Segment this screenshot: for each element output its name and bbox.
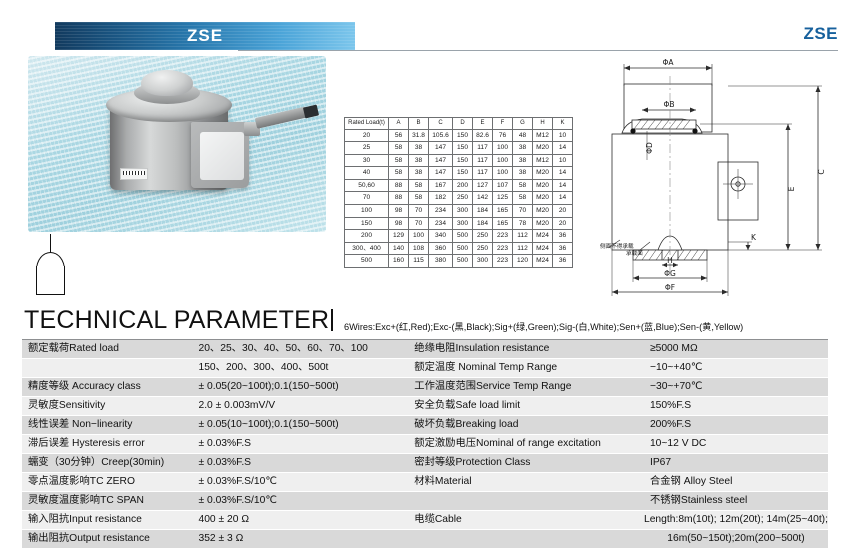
dim-cell-c: 147 xyxy=(429,142,453,155)
label-h: H xyxy=(667,256,673,265)
dimension-table-row: 200129100340500250223112M2436 xyxy=(345,230,573,243)
dim-cell-g: 112 xyxy=(513,230,533,243)
param-left-label: 蠕变（30分钟）Creep(30min) xyxy=(22,454,192,473)
dim-cell-k: 36 xyxy=(553,242,573,255)
dim-cell-k: 10 xyxy=(553,154,573,167)
param-right-value: 200%F.S xyxy=(644,416,828,435)
param-left-value: 150、200、300、400、500t xyxy=(192,359,408,378)
dim-cell-b: 31.8 xyxy=(409,129,429,142)
dimension-table-row: 150987023430018416578M2020 xyxy=(345,217,573,230)
label-phi-d: ΦD xyxy=(645,142,654,154)
dim-cell-k: 14 xyxy=(553,192,573,205)
page-header: ZSE ZSE xyxy=(0,0,850,58)
dim-cell-d: 150 xyxy=(453,129,473,142)
param-right-label: 破坏负载Breaking load xyxy=(408,416,644,435)
dimension-table-row: 500160115380500300223120M2436 xyxy=(345,255,573,268)
product-banner: ZSE xyxy=(55,22,355,50)
dim-cell-b: 108 xyxy=(409,242,429,255)
param-right-label: 工作温度范围Service Temp Range xyxy=(408,378,644,397)
dim-cell-h: M20 xyxy=(533,167,553,180)
param-right-label: 密封等级Protection Class xyxy=(408,454,644,473)
dim-cell-f: 100 xyxy=(493,142,513,155)
title-divider-bar xyxy=(331,309,333,331)
param-right-label: 电缆Cable xyxy=(408,511,644,530)
dim-cell-h: M20 xyxy=(533,142,553,155)
parameter-row: 精度等级 Accuracy class± 0.05(20~100t);0.1(1… xyxy=(22,378,828,397)
dim-cell-h: M20 xyxy=(533,192,553,205)
param-right-value: −10~+40℃ xyxy=(644,359,828,378)
dimension-table-row: 30583814715011710038M1210 xyxy=(345,154,573,167)
product-code: ZSE xyxy=(803,24,838,44)
dimension-table-header-row: Rated Load(t) A B C D E F G H K xyxy=(345,118,573,130)
dim-cell-c: 360 xyxy=(429,242,453,255)
banner-title: ZSE xyxy=(55,22,355,50)
page-title: TECHNICAL PARAMETER xyxy=(24,306,333,335)
param-left-label: 滞后误差 Hysteresis error xyxy=(22,435,192,454)
note-bearing-surface: 承载面 xyxy=(626,249,643,257)
param-right-value: 合金钢 Alloy Steel xyxy=(644,473,828,492)
dim-cell-k: 14 xyxy=(553,179,573,192)
label-c: C xyxy=(817,169,826,174)
dim-cell-e: 142 xyxy=(473,192,493,205)
dim-cell-b: 70 xyxy=(409,204,429,217)
label-phi-g: ΦG xyxy=(664,269,676,278)
param-right-value: 10~12 V DC xyxy=(644,435,828,454)
dimension-table-row: 25583814715011710038M2014 xyxy=(345,142,573,155)
param-right-label: 额定温度 Nominal Temp Range xyxy=(408,359,644,378)
param-left-value: ± 0.03%F.S/10℃ xyxy=(192,473,408,492)
dim-cell-d: 500 xyxy=(453,255,473,268)
param-right-value: ≥5000 MΩ xyxy=(644,340,828,359)
dim-cell-f: 223 xyxy=(493,230,513,243)
param-left-value: ± 0.03%F.S xyxy=(192,454,408,473)
label-e: E xyxy=(787,186,796,191)
dim-cell-b: 100 xyxy=(409,230,429,243)
dim-col-b: B xyxy=(409,118,429,130)
dim-cell-d: 200 xyxy=(453,179,473,192)
dim-col-f: F xyxy=(493,118,513,130)
dim-cell-f: 223 xyxy=(493,242,513,255)
dim-cell-c: 340 xyxy=(429,230,453,243)
parameter-row: 蠕变（30分钟）Creep(30min)± 0.03%F.S密封等级Protec… xyxy=(22,454,828,473)
dim-cell-f: 165 xyxy=(493,217,513,230)
dim-cell-e: 117 xyxy=(473,167,493,180)
dim-cell-e: 250 xyxy=(473,230,493,243)
label-phi-a: ΦA xyxy=(662,58,674,67)
param-left-value: 2.0 ± 0.003mV/V xyxy=(192,397,408,416)
header-divider xyxy=(238,50,838,51)
dim-cell-e: 117 xyxy=(473,142,493,155)
dim-cell-a: 58 xyxy=(389,167,409,180)
parameter-row: 灵敏度温度影响TC SPAN± 0.03%F.S/10℃不锈钢Stainless… xyxy=(22,492,828,511)
dim-cell-rated-load: 25 xyxy=(345,142,389,155)
dim-cell-c: 182 xyxy=(429,192,453,205)
dim-cell-rated-load: 20 xyxy=(345,129,389,142)
dim-cell-k: 10 xyxy=(553,129,573,142)
dimension-table-row: 205631.8105.615082.67648M1210 xyxy=(345,129,573,142)
dim-cell-e: 82.6 xyxy=(473,129,493,142)
param-left-label: 线性误差 Non−linearity xyxy=(22,416,192,435)
dim-cell-b: 70 xyxy=(409,217,429,230)
param-left-label: 灵敏度Sensitivity xyxy=(22,397,192,416)
dim-cell-b: 58 xyxy=(409,192,429,205)
dim-cell-b: 38 xyxy=(409,142,429,155)
dim-cell-c: 147 xyxy=(429,167,453,180)
dim-cell-f: 165 xyxy=(493,204,513,217)
dim-cell-h: M24 xyxy=(533,242,553,255)
dim-cell-c: 105.6 xyxy=(429,129,453,142)
dim-cell-h: M12 xyxy=(533,154,553,167)
dim-cell-c: 167 xyxy=(429,179,453,192)
dim-cell-g: 58 xyxy=(513,192,533,205)
dimension-table-row: 300、400140108360500250223112M2436 xyxy=(345,242,573,255)
dim-cell-a: 98 xyxy=(389,204,409,217)
dim-col-a: A xyxy=(389,118,409,130)
dim-cell-k: 14 xyxy=(553,142,573,155)
dim-cell-g: 38 xyxy=(513,154,533,167)
dim-cell-rated-load: 200 xyxy=(345,230,389,243)
dim-cell-rated-load: 50,60 xyxy=(345,179,389,192)
dim-cell-rated-load: 100 xyxy=(345,204,389,217)
dim-cell-k: 36 xyxy=(553,255,573,268)
dim-cell-rated-load: 500 xyxy=(345,255,389,268)
parameter-row: 150、200、300、400、500t额定温度 Nominal Temp Ra… xyxy=(22,359,828,378)
param-left-label: 零点温度影响TC ZERO xyxy=(22,473,192,492)
label-phi-b: ΦB xyxy=(663,100,674,109)
dim-cell-d: 500 xyxy=(453,230,473,243)
dim-cell-h: M24 xyxy=(533,255,553,268)
parameter-row: 线性误差 Non−linearity± 0.05(10~100t);0.1(15… xyxy=(22,416,828,435)
dim-cell-k: 20 xyxy=(553,217,573,230)
dim-cell-f: 100 xyxy=(493,154,513,167)
dim-cell-a: 58 xyxy=(389,154,409,167)
dimension-table-row: 100987023430018416570M2020 xyxy=(345,204,573,217)
dim-cell-b: 38 xyxy=(409,154,429,167)
load-cell-nameplate xyxy=(200,132,244,180)
dim-cell-b: 58 xyxy=(409,179,429,192)
dim-cell-h: M20 xyxy=(533,217,553,230)
dim-cell-g: 112 xyxy=(513,242,533,255)
dim-cell-g: 78 xyxy=(513,217,533,230)
dim-cell-h: M20 xyxy=(533,179,553,192)
dimension-table-row: 70885818225014212558M2014 xyxy=(345,192,573,205)
dim-cell-a: 88 xyxy=(389,179,409,192)
param-right-value: Length:8m(10t); 12m(20t); 14m(25~40t); xyxy=(644,511,828,530)
product-photo xyxy=(28,56,326,232)
param-left-value: ± 0.05(10~100t);0.1(150~500t) xyxy=(192,416,408,435)
param-left-value: 20、25、30、40、50、60、70、100 xyxy=(192,340,408,359)
param-right-label xyxy=(408,492,644,511)
dim-cell-h: M24 xyxy=(533,230,553,243)
dim-cell-c: 234 xyxy=(429,217,453,230)
param-right-value: 150%F.S xyxy=(644,397,828,416)
dim-cell-k: 14 xyxy=(553,167,573,180)
dim-col-d: D xyxy=(453,118,473,130)
dim-cell-d: 300 xyxy=(453,204,473,217)
dim-cell-d: 150 xyxy=(453,142,473,155)
dim-cell-d: 300 xyxy=(453,217,473,230)
parameter-row: 滞后误差 Hysteresis error± 0.03%F.S额定激励电压Nom… xyxy=(22,435,828,454)
param-left-value: 400 ± 20 Ω xyxy=(192,511,408,530)
dim-cell-a: 56 xyxy=(389,129,409,142)
param-right-value: −30~+70℃ xyxy=(644,378,828,397)
load-cell-outline-icon xyxy=(36,266,65,295)
dimension-table-row: 40583814715011710038M2014 xyxy=(345,167,573,180)
dim-cell-h: M12 xyxy=(533,129,553,142)
dim-cell-g: 58 xyxy=(513,179,533,192)
dim-cell-a: 98 xyxy=(389,217,409,230)
dimension-table-container: Rated Load(t) A B C D E F G H K 205631.8… xyxy=(344,117,573,268)
parameter-row: 输入阻抗Input resistance400 ± 20 Ω电缆CableLen… xyxy=(22,511,828,530)
param-left-label: 输入阻抗Input resistance xyxy=(22,511,192,530)
dim-col-h: H xyxy=(533,118,553,130)
param-right-label: 绝缘电阻Insulation resistance xyxy=(408,340,644,359)
dim-cell-a: 129 xyxy=(389,230,409,243)
dim-cell-rated-load: 30 xyxy=(345,154,389,167)
dim-cell-k: 20 xyxy=(553,204,573,217)
label-phi-f: ΦF xyxy=(665,283,675,292)
dim-cell-a: 160 xyxy=(389,255,409,268)
dim-cell-d: 150 xyxy=(453,167,473,180)
dim-cell-g: 120 xyxy=(513,255,533,268)
parameter-row: 灵敏度Sensitivity2.0 ± 0.003mV/V安全负载Safe lo… xyxy=(22,397,828,416)
dim-cell-c: 380 xyxy=(429,255,453,268)
dim-cell-e: 127 xyxy=(473,179,493,192)
dim-cell-g: 38 xyxy=(513,142,533,155)
note-side-no-load: 侧面不得承载 xyxy=(600,242,634,250)
dim-cell-a: 58 xyxy=(389,142,409,155)
barcode-label xyxy=(120,168,148,180)
dim-cell-g: 70 xyxy=(513,204,533,217)
dim-cell-d: 250 xyxy=(453,192,473,205)
parameter-row: 额定载荷Rated load20、25、30、40、50、60、70、100绝缘… xyxy=(22,340,828,359)
technical-parameter-table: 额定载荷Rated load20、25、30、40、50、60、70、100绝缘… xyxy=(22,339,828,549)
dim-cell-k: 36 xyxy=(553,230,573,243)
parameter-row: 零点温度影响TC ZERO± 0.03%F.S/10℃材料Material合金钢… xyxy=(22,473,828,492)
page-title-text: TECHNICAL PARAMETER xyxy=(24,306,329,334)
dim-col-c: C xyxy=(429,118,453,130)
dim-cell-h: M20 xyxy=(533,204,553,217)
dim-cell-e: 117 xyxy=(473,154,493,167)
dim-cell-a: 140 xyxy=(389,242,409,255)
dim-cell-f: 100 xyxy=(493,167,513,180)
dim-cell-e: 184 xyxy=(473,204,493,217)
param-right-label: 材料Material xyxy=(408,473,644,492)
param-left-value: ± 0.03%F.S/10℃ xyxy=(192,492,408,511)
dim-cell-f: 107 xyxy=(493,179,513,192)
wiring-note: 6Wires:Exc+(红,Red);Exc-(黑,Black);Sig+(绿,… xyxy=(344,319,743,333)
dim-cell-f: 76 xyxy=(493,129,513,142)
engineering-drawing: ΦA ΦB ΦG ΦF H K C E ΦD 侧面不得承载 承载面 xyxy=(600,52,850,302)
dim-cell-b: 38 xyxy=(409,167,429,180)
param-right-value: IP67 xyxy=(644,454,828,473)
dim-cell-rated-load: 300、400 xyxy=(345,242,389,255)
dim-cell-rated-load: 150 xyxy=(345,217,389,230)
param-right-value: 不锈钢Stainless steel xyxy=(644,492,828,511)
dimension-table-row: 50,60885816720012710758M2014 xyxy=(345,179,573,192)
param-left-label: 灵敏度温度影响TC SPAN xyxy=(22,492,192,511)
dim-col-e: E xyxy=(473,118,493,130)
dim-cell-e: 250 xyxy=(473,242,493,255)
dim-cell-c: 234 xyxy=(429,204,453,217)
dimension-table: Rated Load(t) A B C D E F G H K 205631.8… xyxy=(344,117,573,268)
cable-tip xyxy=(303,105,319,119)
dim-cell-rated-load: 70 xyxy=(345,192,389,205)
dim-cell-e: 300 xyxy=(473,255,493,268)
output-cable xyxy=(255,106,308,128)
dim-cell-a: 88 xyxy=(389,192,409,205)
dim-cell-b: 115 xyxy=(409,255,429,268)
param-left-value: ± 0.03%F.S xyxy=(192,435,408,454)
dim-cell-d: 150 xyxy=(453,154,473,167)
label-k: K xyxy=(751,233,757,242)
dim-col-k: K xyxy=(553,118,573,130)
param-left-label xyxy=(22,359,192,378)
dim-col-rated-load: Rated Load(t) xyxy=(345,118,389,130)
dim-cell-e: 184 xyxy=(473,217,493,230)
dim-cell-d: 500 xyxy=(453,242,473,255)
load-cell-loading-boss xyxy=(141,70,193,96)
dim-cell-g: 38 xyxy=(513,167,533,180)
dim-cell-c: 147 xyxy=(429,154,453,167)
dim-cell-g: 48 xyxy=(513,129,533,142)
param-left-label: 额定载荷Rated load xyxy=(22,340,192,359)
compression-load-direction-symbol xyxy=(34,234,82,296)
dim-cell-f: 125 xyxy=(493,192,513,205)
param-left-value: ± 0.05(20~100t);0.1(150~500t) xyxy=(192,378,408,397)
drawing-svg: ΦA ΦB ΦG ΦF H K C E ΦD 侧面不得承载 承载面 xyxy=(600,52,850,302)
dim-cell-f: 223 xyxy=(493,255,513,268)
param-left-label: 精度等级 Accuracy class xyxy=(22,378,192,397)
param-right-label: 安全负载Safe load limit xyxy=(408,397,644,416)
dim-cell-rated-load: 40 xyxy=(345,167,389,180)
param-right-label: 额定激励电压Nominal of range excitation xyxy=(408,435,644,454)
dim-col-g: G xyxy=(513,118,533,130)
